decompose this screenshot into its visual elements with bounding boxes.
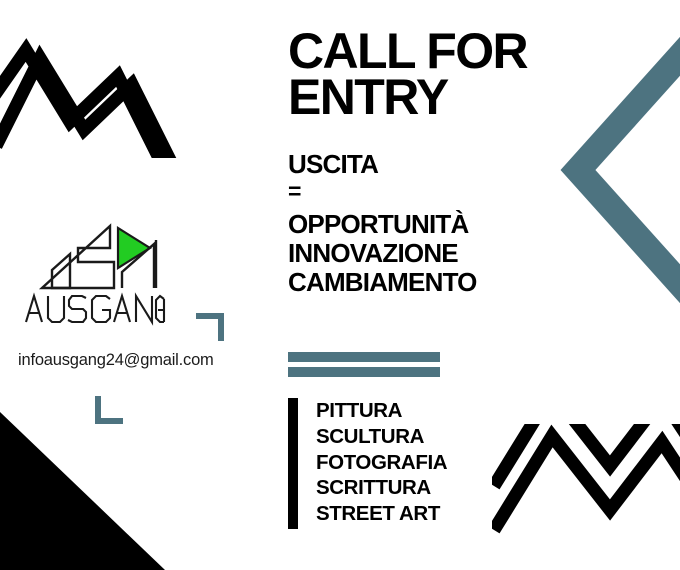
categories-block: PITTURA SCULTURA FOTOGRAFIA SCRITTURA ST…: [288, 398, 447, 529]
subhead-block: USCITA = OPPORTUNITÀ INNOVAZIONE CAMBIAM…: [288, 150, 588, 298]
content-column: CALL FOR ENTRY USCITA = OPPORTUNITÀ INNO…: [288, 28, 588, 298]
headline-line-2: ENTRY: [288, 74, 588, 120]
category-list: PITTURA SCULTURA FOTOGRAFIA SCRITTURA ST…: [316, 398, 447, 527]
teal-bar: [288, 367, 440, 377]
list-item: SCRITTURA: [316, 475, 447, 501]
category-vertical-rule: [288, 398, 298, 529]
zigzag-top-left-icon: [0, 38, 199, 158]
list-item: FOTOGRAFIA: [316, 450, 447, 476]
logo-24-mark-icon: [22, 222, 172, 294]
subhead-line-uscita: USCITA: [288, 150, 588, 179]
ausgang-logo: [22, 222, 172, 332]
headline-line-1: CALL FOR: [288, 28, 588, 74]
logo-wordmark-icon: [24, 292, 166, 326]
subhead-line-opportunita: OPPORTUNITÀ: [288, 210, 588, 239]
corner-bracket-top-right-icon: [196, 313, 224, 341]
poster-canvas: infoausgang24@gmail.com CALL FOR ENTRY U…: [0, 0, 680, 570]
corner-triangle-icon: [0, 400, 200, 570]
subhead-line-innovazione: INNOVAZIONE: [288, 239, 588, 268]
teal-divider-bars: [288, 352, 440, 377]
list-item: PITTURA: [316, 398, 447, 424]
list-item: SCULTURA: [316, 424, 447, 450]
contact-email[interactable]: infoausgang24@gmail.com: [18, 351, 214, 370]
corner-bracket-bottom-left-icon: [95, 396, 123, 424]
teal-bar: [288, 352, 440, 362]
list-item: STREET ART: [316, 501, 447, 527]
subhead-line-equals: =: [288, 179, 588, 203]
subhead-line-cambiamento: CAMBIAMENTO: [288, 268, 588, 297]
page-title: CALL FOR ENTRY: [288, 28, 588, 120]
zigzag-bottom-right-icon: [492, 424, 680, 544]
